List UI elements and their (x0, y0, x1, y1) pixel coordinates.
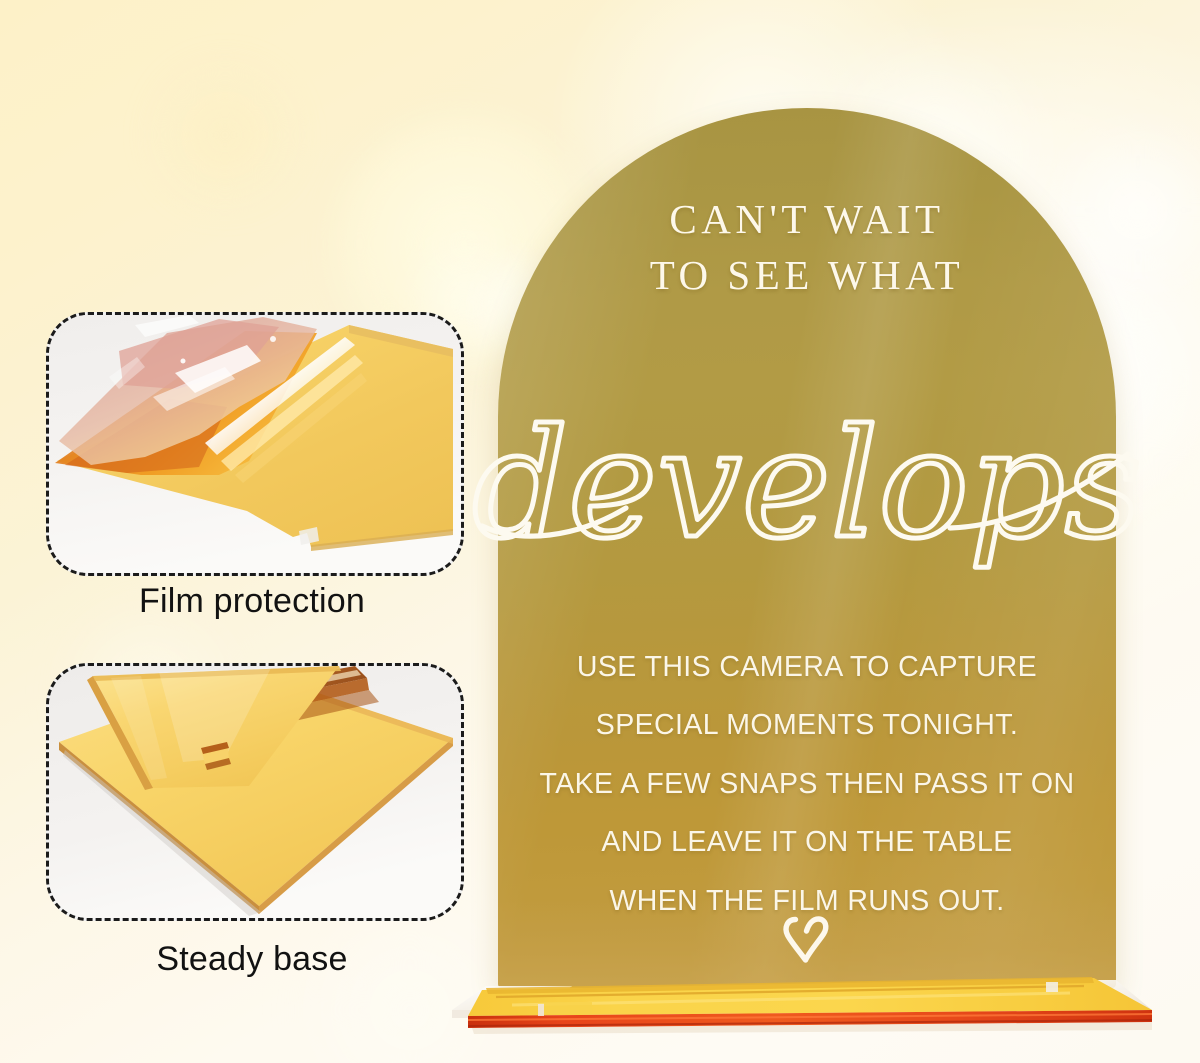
acrylic-arch-sign: CAN'T WAIT TO SEE WHAT USE THIS CAMERA T… (498, 108, 1116, 988)
feature-card-steady-base (46, 663, 464, 921)
feature-caption-steady-base: Steady base (46, 940, 458, 979)
feature-card-film-protection (46, 312, 464, 576)
body-line-4: AND LEAVE IT ON THE TABLE (508, 813, 1106, 871)
steady-base-photo (49, 666, 461, 918)
body-line-1: USE THIS CAMERA TO CAPTURE (508, 638, 1106, 696)
script-word-svg: develops (480, 376, 1134, 606)
sign-headline: CAN'T WAIT TO SEE WHAT (498, 192, 1116, 304)
stand-svg (452, 960, 1152, 1038)
film-protection-photo (49, 315, 461, 573)
headline-line-1: CAN'T WAIT (498, 192, 1116, 248)
heart-outline-icon (778, 910, 836, 966)
sign-body-copy: USE THIS CAMERA TO CAPTURE SPECIAL MOMEN… (508, 638, 1106, 930)
body-line-2: SPECIAL MOMENTS TONIGHT. (508, 696, 1106, 754)
feature-caption-film-protection: Film protection (46, 582, 458, 621)
body-line-3: TAKE A FEW SNAPS THEN PASS IT ON (508, 755, 1106, 813)
bokeh-circle (150, 60, 300, 210)
script-word-text: develops (472, 398, 1142, 572)
sign-script-word-area: develops (480, 376, 1134, 606)
heart-holder (498, 910, 1116, 966)
headline-line-2: TO SEE WHAT (498, 248, 1116, 304)
sign-stand-base (452, 960, 1152, 1038)
product-image-canvas: Film protection (0, 0, 1200, 1063)
